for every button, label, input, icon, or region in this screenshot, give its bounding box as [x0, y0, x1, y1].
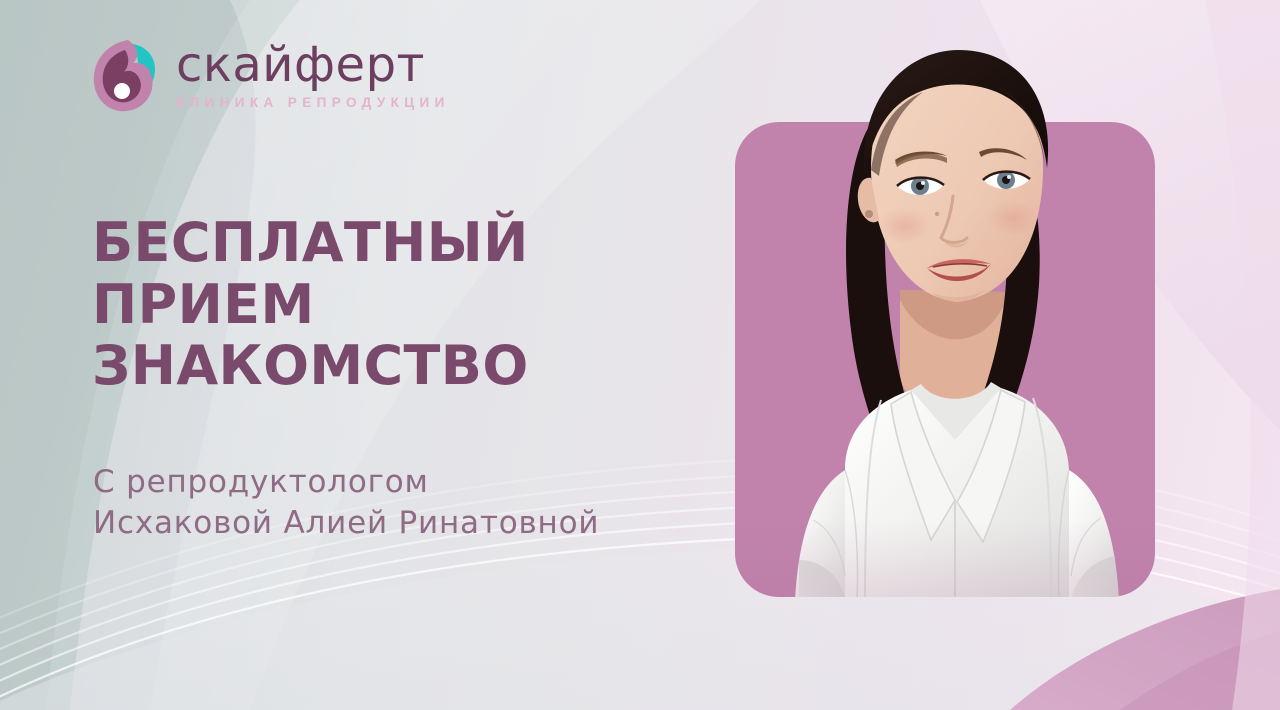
logo-text-group: скайферт КЛИНИКА РЕПРОДУКЦИИ — [176, 41, 450, 110]
logo-wordmark: скайферт — [176, 41, 450, 89]
logo-tagline: КЛИНИКА РЕПРОДУКЦИИ — [176, 96, 450, 110]
doctor-portrait-image — [735, 0, 1155, 597]
subtitle: С репродуктологом Исхаковой Алией Ринато… — [93, 462, 599, 544]
brand-logo[interactable]: скайферт КЛИНИКА РЕПРОДУКЦИИ — [88, 34, 450, 116]
subtitle-line-1: С репродуктологом — [93, 462, 599, 503]
subtitle-line-2: Исхаковой Алией Ринатовной — [93, 503, 599, 544]
headline-line-3: ЗНАКОМСТВО — [92, 335, 529, 397]
headline: БЕСПЛАТНЫЙ ПРИЕМ ЗНАКОМСТВО — [92, 212, 529, 397]
skyfert-droplet-icon — [88, 34, 162, 116]
headline-line-2: ПРИЕМ — [92, 274, 529, 336]
promo-banner: скайферт КЛИНИКА РЕПРОДУКЦИИ БЕСПЛАТНЫЙ … — [0, 0, 1280, 710]
headline-line-1: БЕСПЛАТНЫЙ — [92, 212, 529, 274]
